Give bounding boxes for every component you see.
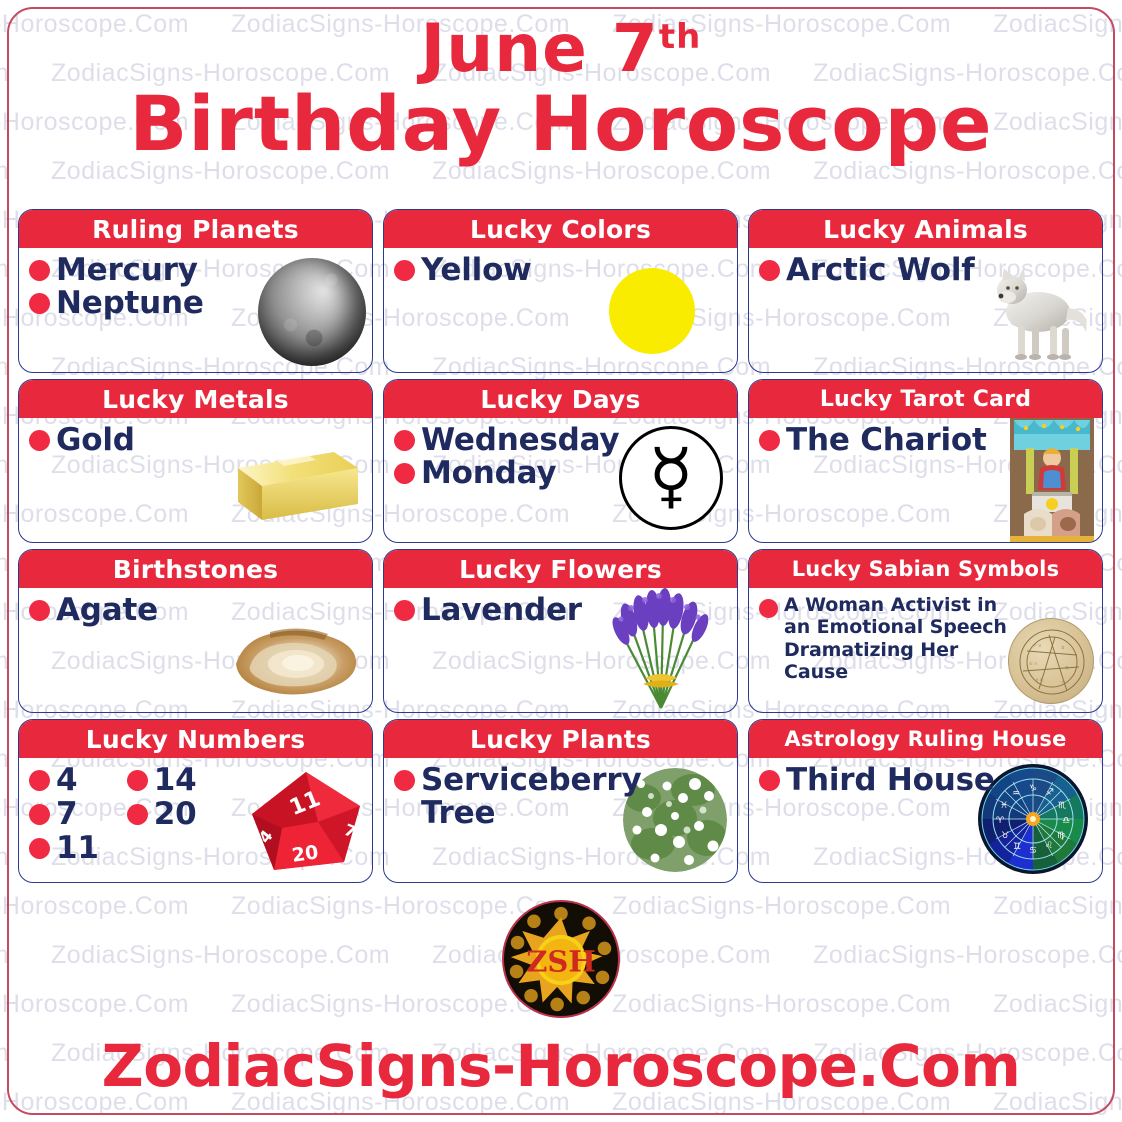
bullet-icon bbox=[759, 770, 780, 791]
bullet-icon bbox=[394, 770, 415, 791]
card-body-lucky-plants: Serviceberry Tree bbox=[384, 758, 737, 882]
card-body-lucky-flowers: Lavender bbox=[384, 588, 737, 712]
logo-text: ZSH bbox=[526, 945, 595, 979]
lucky-numbers-column-2: 14 20 bbox=[127, 764, 197, 865]
list-item: Gold bbox=[29, 424, 362, 457]
card-lucky-sabian-symbols: Lucky Sabian Symbols ♈ ♉♊ bbox=[748, 549, 1103, 713]
bullet-icon bbox=[29, 804, 50, 825]
card-title: Lucky Flowers bbox=[459, 555, 662, 584]
item-label: Lavender bbox=[421, 594, 582, 627]
card-header-lucky-tarot: Lucky Tarot Card bbox=[749, 380, 1102, 418]
card-header-lucky-animals: Lucky Animals bbox=[749, 210, 1102, 248]
svg-text:♈: ♈ bbox=[996, 816, 1005, 826]
agate-stone-icon bbox=[230, 622, 360, 700]
list-item: Yellow bbox=[394, 254, 727, 287]
bullet-icon bbox=[394, 260, 415, 281]
attributes-grid: Ruling Planets Mercury Neptune bbox=[18, 209, 1104, 889]
list-item: Serviceberry Tree bbox=[394, 764, 727, 830]
brand-logo-wrapper: ZSH bbox=[0, 900, 1122, 1018]
poster-title-block: June 7th Birthday Horoscope bbox=[0, 0, 1122, 166]
list-item: A Woman Activist in an Emotional Speech … bbox=[759, 594, 1092, 684]
bullet-icon bbox=[127, 770, 148, 791]
card-astrology-ruling-house: Astrology Ruling House bbox=[748, 719, 1103, 883]
card-body-lucky-metals: Gold bbox=[19, 418, 372, 542]
item-label: 20 bbox=[154, 798, 197, 831]
item-label: 14 bbox=[154, 764, 197, 797]
item-label: Arctic Wolf bbox=[786, 254, 975, 287]
svg-text:♓: ♓ bbox=[1000, 801, 1008, 811]
item-label: Serviceberry Tree bbox=[421, 764, 631, 830]
card-header-lucky-colors: Lucky Colors bbox=[384, 210, 737, 248]
bullet-icon bbox=[29, 838, 50, 859]
list-item: The Chariot bbox=[759, 424, 1092, 457]
card-body-ruling-planets: Mercury Neptune bbox=[19, 248, 372, 372]
card-lucky-metals: Lucky Metals bbox=[18, 379, 373, 543]
svg-text:♎: ♎ bbox=[1062, 816, 1070, 826]
item-label: A Woman Activist in an Emotional Speech … bbox=[784, 594, 1016, 684]
card-title: Lucky Days bbox=[480, 385, 640, 414]
card-body-lucky-numbers: 11 4 7 20 4 bbox=[19, 758, 372, 882]
svg-text:♋: ♋ bbox=[1029, 846, 1037, 856]
svg-text:♊: ♊ bbox=[1013, 842, 1021, 852]
bullet-icon bbox=[394, 600, 415, 621]
card-title: Lucky Tarot Card bbox=[820, 387, 1031, 412]
bullet-icon bbox=[29, 430, 50, 451]
list-item: 11 bbox=[29, 832, 99, 865]
item-label: 4 bbox=[56, 764, 77, 797]
card-body-lucky-days: ☿ Wednesday Monday bbox=[384, 418, 737, 542]
bullet-icon bbox=[29, 293, 50, 314]
title-subject: Birthday Horoscope bbox=[0, 81, 1122, 166]
card-header-ruling-planets: Ruling Planets bbox=[19, 210, 372, 248]
card-lucky-colors: Lucky Colors Yellow bbox=[383, 209, 738, 373]
item-label: Gold bbox=[56, 424, 135, 457]
bullet-icon bbox=[394, 463, 415, 484]
card-lucky-animals: Lucky Animals bbox=[748, 209, 1103, 373]
card-ruling-planets: Ruling Planets Mercury Neptune bbox=[18, 209, 373, 373]
list-item: Arctic Wolf bbox=[759, 254, 1092, 287]
item-label: Yellow bbox=[421, 254, 532, 287]
list-item: Monday bbox=[394, 457, 727, 490]
bullet-icon bbox=[29, 600, 50, 621]
lucky-numbers-column-1: 4 7 11 bbox=[29, 764, 99, 865]
svg-text:♌: ♌ bbox=[1045, 841, 1053, 851]
card-title: Lucky Animals bbox=[823, 215, 1028, 244]
card-body-lucky-tarot: The Chariot bbox=[749, 418, 1102, 542]
item-label: 7 bbox=[56, 798, 77, 831]
card-birthstones: Birthstones bbox=[18, 549, 373, 713]
bullet-icon bbox=[759, 430, 780, 451]
card-lucky-flowers: Lucky Flowers bbox=[383, 549, 738, 713]
title-date-text: June 7 bbox=[421, 10, 659, 87]
item-label: Neptune bbox=[56, 287, 204, 320]
list-item: 20 bbox=[127, 798, 197, 831]
bullet-icon bbox=[759, 599, 778, 618]
card-body-lucky-colors: Yellow bbox=[384, 248, 737, 372]
infographic-poster: ZodiacSigns-Horoscope.ComZodiacSigns-Hor… bbox=[0, 0, 1122, 1122]
footer: ZodiacSigns-Horoscope.Com bbox=[0, 1032, 1122, 1100]
card-title: Birthstones bbox=[113, 555, 279, 584]
card-header-lucky-numbers: Lucky Numbers bbox=[19, 720, 372, 758]
list-item: Mercury bbox=[29, 254, 362, 287]
item-label: Third House bbox=[786, 764, 995, 797]
list-item: 14 bbox=[127, 764, 197, 797]
item-label: Agate bbox=[56, 594, 158, 627]
list-item: 7 bbox=[29, 798, 99, 831]
svg-text:♏: ♏ bbox=[1058, 801, 1066, 811]
card-header-lucky-plants: Lucky Plants bbox=[384, 720, 737, 758]
card-lucky-numbers: Lucky Numbers 11 4 bbox=[18, 719, 373, 883]
card-header-lucky-metals: Lucky Metals bbox=[19, 380, 372, 418]
bullet-icon bbox=[29, 260, 50, 281]
card-body-lucky-sabian: ♈ ♉♊ ♋ ♌♍ ♎ ♏♐ A Woman Activist in an Em… bbox=[749, 588, 1102, 712]
card-body-lucky-animals: Arctic Wolf bbox=[749, 248, 1102, 372]
card-lucky-plants: Lucky Plants bbox=[383, 719, 738, 883]
gold-bar-icon bbox=[216, 446, 362, 532]
zodiacsigns-horoscope-logo: ZSH bbox=[502, 900, 620, 1018]
card-title: Lucky Metals bbox=[102, 385, 289, 414]
list-item: Wednesday bbox=[394, 424, 727, 457]
card-title: Lucky Sabian Symbols bbox=[792, 557, 1060, 581]
card-title: Lucky Colors bbox=[470, 215, 651, 244]
card-header-lucky-days: Lucky Days bbox=[384, 380, 737, 418]
card-header-astrology-house: Astrology Ruling House bbox=[749, 720, 1102, 758]
list-item: Lavender bbox=[394, 594, 727, 627]
card-title: Astrology Ruling House bbox=[784, 727, 1066, 751]
list-item: Agate bbox=[29, 594, 362, 627]
card-title: Ruling Planets bbox=[92, 215, 299, 244]
item-label: 11 bbox=[56, 832, 99, 865]
list-item: 4 bbox=[29, 764, 99, 797]
title-date: June 7th bbox=[0, 14, 1122, 83]
bullet-icon bbox=[394, 430, 415, 451]
list-item: Neptune bbox=[29, 287, 362, 320]
bullet-icon bbox=[127, 804, 148, 825]
svg-text:♉: ♉ bbox=[1001, 831, 1009, 841]
card-title: Lucky Numbers bbox=[86, 725, 306, 754]
card-header-lucky-flowers: Lucky Flowers bbox=[384, 550, 737, 588]
item-label: Monday bbox=[421, 457, 556, 490]
list-item: Third House bbox=[759, 764, 1092, 797]
card-header-birthstones: Birthstones bbox=[19, 550, 372, 588]
footer-site-name: ZodiacSigns-Horoscope.Com bbox=[0, 1032, 1122, 1100]
item-label: Wednesday bbox=[421, 424, 619, 457]
card-body-birthstones: Agate bbox=[19, 588, 372, 712]
title-date-ordinal: th bbox=[659, 17, 701, 57]
item-label: The Chariot bbox=[786, 424, 987, 457]
svg-text:♍: ♍ bbox=[1057, 831, 1065, 841]
card-lucky-tarot: Lucky Tarot Card bbox=[748, 379, 1103, 543]
bullet-icon bbox=[29, 770, 50, 791]
card-header-lucky-sabian: Lucky Sabian Symbols bbox=[749, 550, 1102, 588]
item-label: Mercury bbox=[56, 254, 198, 287]
bullet-icon bbox=[759, 260, 780, 281]
card-body-astrology-house: ♑♐ ♏♎ ♍♌ ♋♊ ♉♈ ♓♒ bbox=[749, 758, 1102, 882]
card-title: Lucky Plants bbox=[470, 725, 651, 754]
card-lucky-days: Lucky Days ☿ Wednesday Monday bbox=[383, 379, 738, 543]
